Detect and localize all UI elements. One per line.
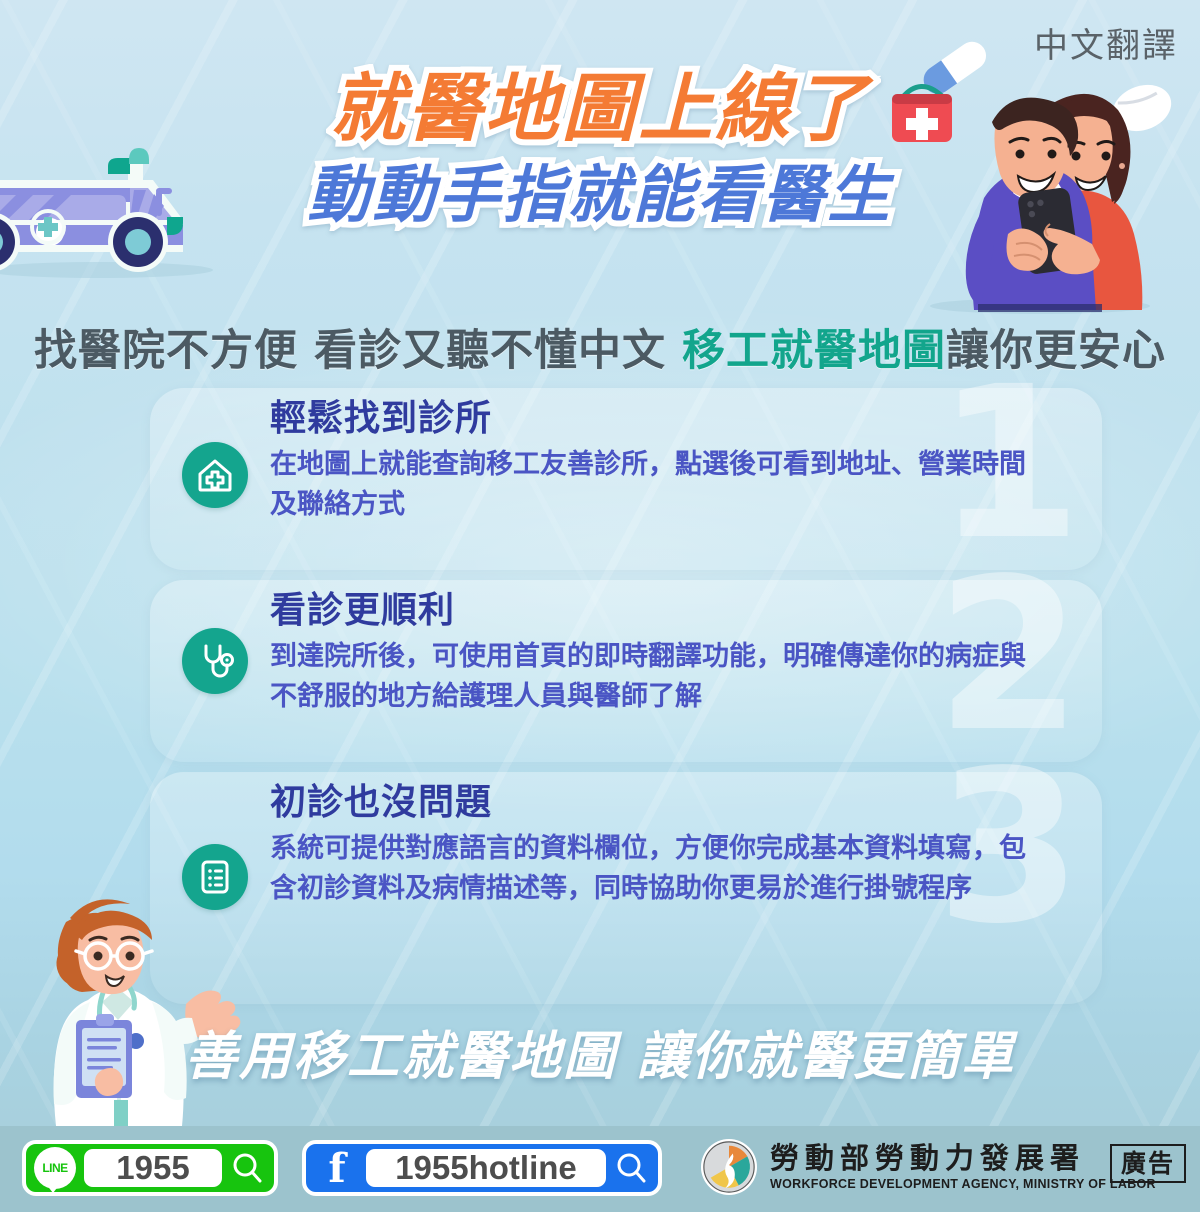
agency-logo-icon <box>700 1138 758 1196</box>
advertisement-badge: 廣告 <box>1110 1144 1186 1183</box>
line-contact-pill[interactable]: LINE 1955 <box>22 1140 278 1196</box>
infographic-poster: 就醫地圖上線了 動動手指就能看醫生 找醫院不方便 看診又聽不懂中文 移工就醫地圖… <box>0 0 1200 1212</box>
headline-line-1: 就醫地圖上線了 <box>0 72 1200 146</box>
headline-line-2: 動動手指就能看醫生 <box>0 164 1200 226</box>
feature-text-3: 初診也沒問題 系統可提供對應語言的資料欄位，方便你完成基本資料填寫，包含初診資料… <box>270 782 1030 909</box>
facebook-contact-pill[interactable]: f 1955hotline <box>302 1140 662 1196</box>
subtitle-tail: 讓你更安心 <box>946 326 1166 376</box>
bottom-tagline: 善用移工就醫地圖 讓你就醫更簡單 <box>0 1014 1200 1089</box>
headline-group: 就醫地圖上線了 動動手指就能看醫生 <box>0 72 1200 226</box>
feature-desc-2: 到達院所後，可使用首頁的即時翻譯功能，明確傳達你的病症與不舒服的地方給護理人員與… <box>270 637 1030 717</box>
clinic-home-icon <box>182 442 248 508</box>
search-icon[interactable] <box>614 1151 648 1185</box>
subtitle-plain: 找醫院不方便 看診又聽不懂中文 <box>34 326 682 376</box>
agency-name-cn: 勞動部勞動力發展署 <box>770 1143 1156 1175</box>
search-icon[interactable] <box>230 1151 264 1185</box>
facebook-icon: f <box>316 1147 358 1189</box>
subtitle: 找醫院不方便 看診又聽不懂中文 移工就醫地圖讓你更安心 <box>0 316 1200 378</box>
feature-title-2: 看診更順利 <box>270 590 1030 631</box>
feature-desc-3: 系統可提供對應語言的資料欄位，方便你完成基本資料填寫，包含初診資料及病情描述等，… <box>270 829 1030 909</box>
language-label: 中文翻譯 <box>1034 18 1178 67</box>
agency-text: 勞動部勞動力發展署 WORKFORCE DEVELOPMENT AGENCY, … <box>770 1143 1156 1191</box>
feature-block-3: 初診也沒問題 系統可提供對應語言的資料欄位，方便你完成基本資料填寫，包含初診資料… <box>182 782 1030 910</box>
stethoscope-icon <box>182 628 248 694</box>
line-icon-label: LINE <box>42 1161 67 1175</box>
feature-desc-1: 在地圖上就能查詢移工友善診所，點選後可看到地址、營業時間及聯絡方式 <box>270 445 1030 525</box>
line-id-value: 1955 <box>84 1149 222 1187</box>
feature-title-3: 初診也沒問題 <box>270 782 1030 823</box>
agency-branding: 勞動部勞動力發展署 WORKFORCE DEVELOPMENT AGENCY, … <box>700 1138 1156 1196</box>
subtitle-highlight: 移工就醫地圖 <box>682 326 946 376</box>
agency-name-en: WORKFORCE DEVELOPMENT AGENCY, MINISTRY O… <box>770 1177 1156 1191</box>
feature-block-2: 看診更順利 到達院所後，可使用首頁的即時翻譯功能，明確傳達你的病症與不舒服的地方… <box>182 590 1030 717</box>
doctor-illustration <box>18 852 248 1132</box>
footer-bar: LINE 1955 f 1955hotline <box>0 1126 1200 1212</box>
feature-text-1: 輕鬆找到診所 在地圖上就能查詢移工友善診所，點選後可看到地址、營業時間及聯絡方式 <box>270 398 1030 525</box>
feature-block-1: 輕鬆找到診所 在地圖上就能查詢移工友善診所，點選後可看到地址、營業時間及聯絡方式 <box>182 398 1030 525</box>
feature-text-2: 看診更順利 到達院所後，可使用首頁的即時翻譯功能，明確傳達你的病症與不舒服的地方… <box>270 590 1030 717</box>
line-icon: LINE <box>34 1147 76 1189</box>
feature-title-1: 輕鬆找到診所 <box>270 398 1030 439</box>
facebook-page-value: 1955hotline <box>366 1149 606 1187</box>
